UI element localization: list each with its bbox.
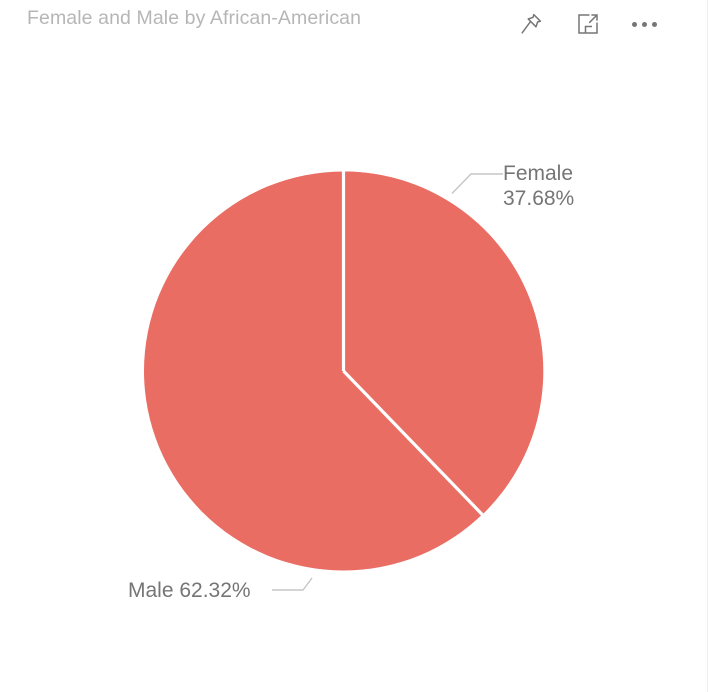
pie-chart-svg: Female 37.68% Male 62.32%: [0, 56, 708, 692]
pie-chart-visual-card: Female and Male by African-American: [0, 0, 708, 692]
more-options-button[interactable]: [628, 8, 660, 40]
pie-label-male: Male 62.32%: [128, 579, 251, 602]
pin-icon: [519, 12, 543, 36]
pie-label-female-value: 37.68%: [503, 187, 574, 210]
focus-mode-button[interactable]: [572, 8, 604, 40]
card-header: Female and Male by African-American: [0, 0, 708, 56]
ellipsis-icon: [632, 22, 657, 27]
focus-expand-icon: [576, 12, 600, 36]
page-title: Female and Male by African-American: [27, 4, 361, 32]
pin-button[interactable]: [515, 8, 547, 40]
leader-line-male: [272, 578, 312, 590]
pie-label-female-name: Female: [503, 162, 573, 185]
pie-plot-area: Female 37.68% Male 62.32%: [0, 56, 708, 692]
leader-line-female: [452, 174, 503, 194]
